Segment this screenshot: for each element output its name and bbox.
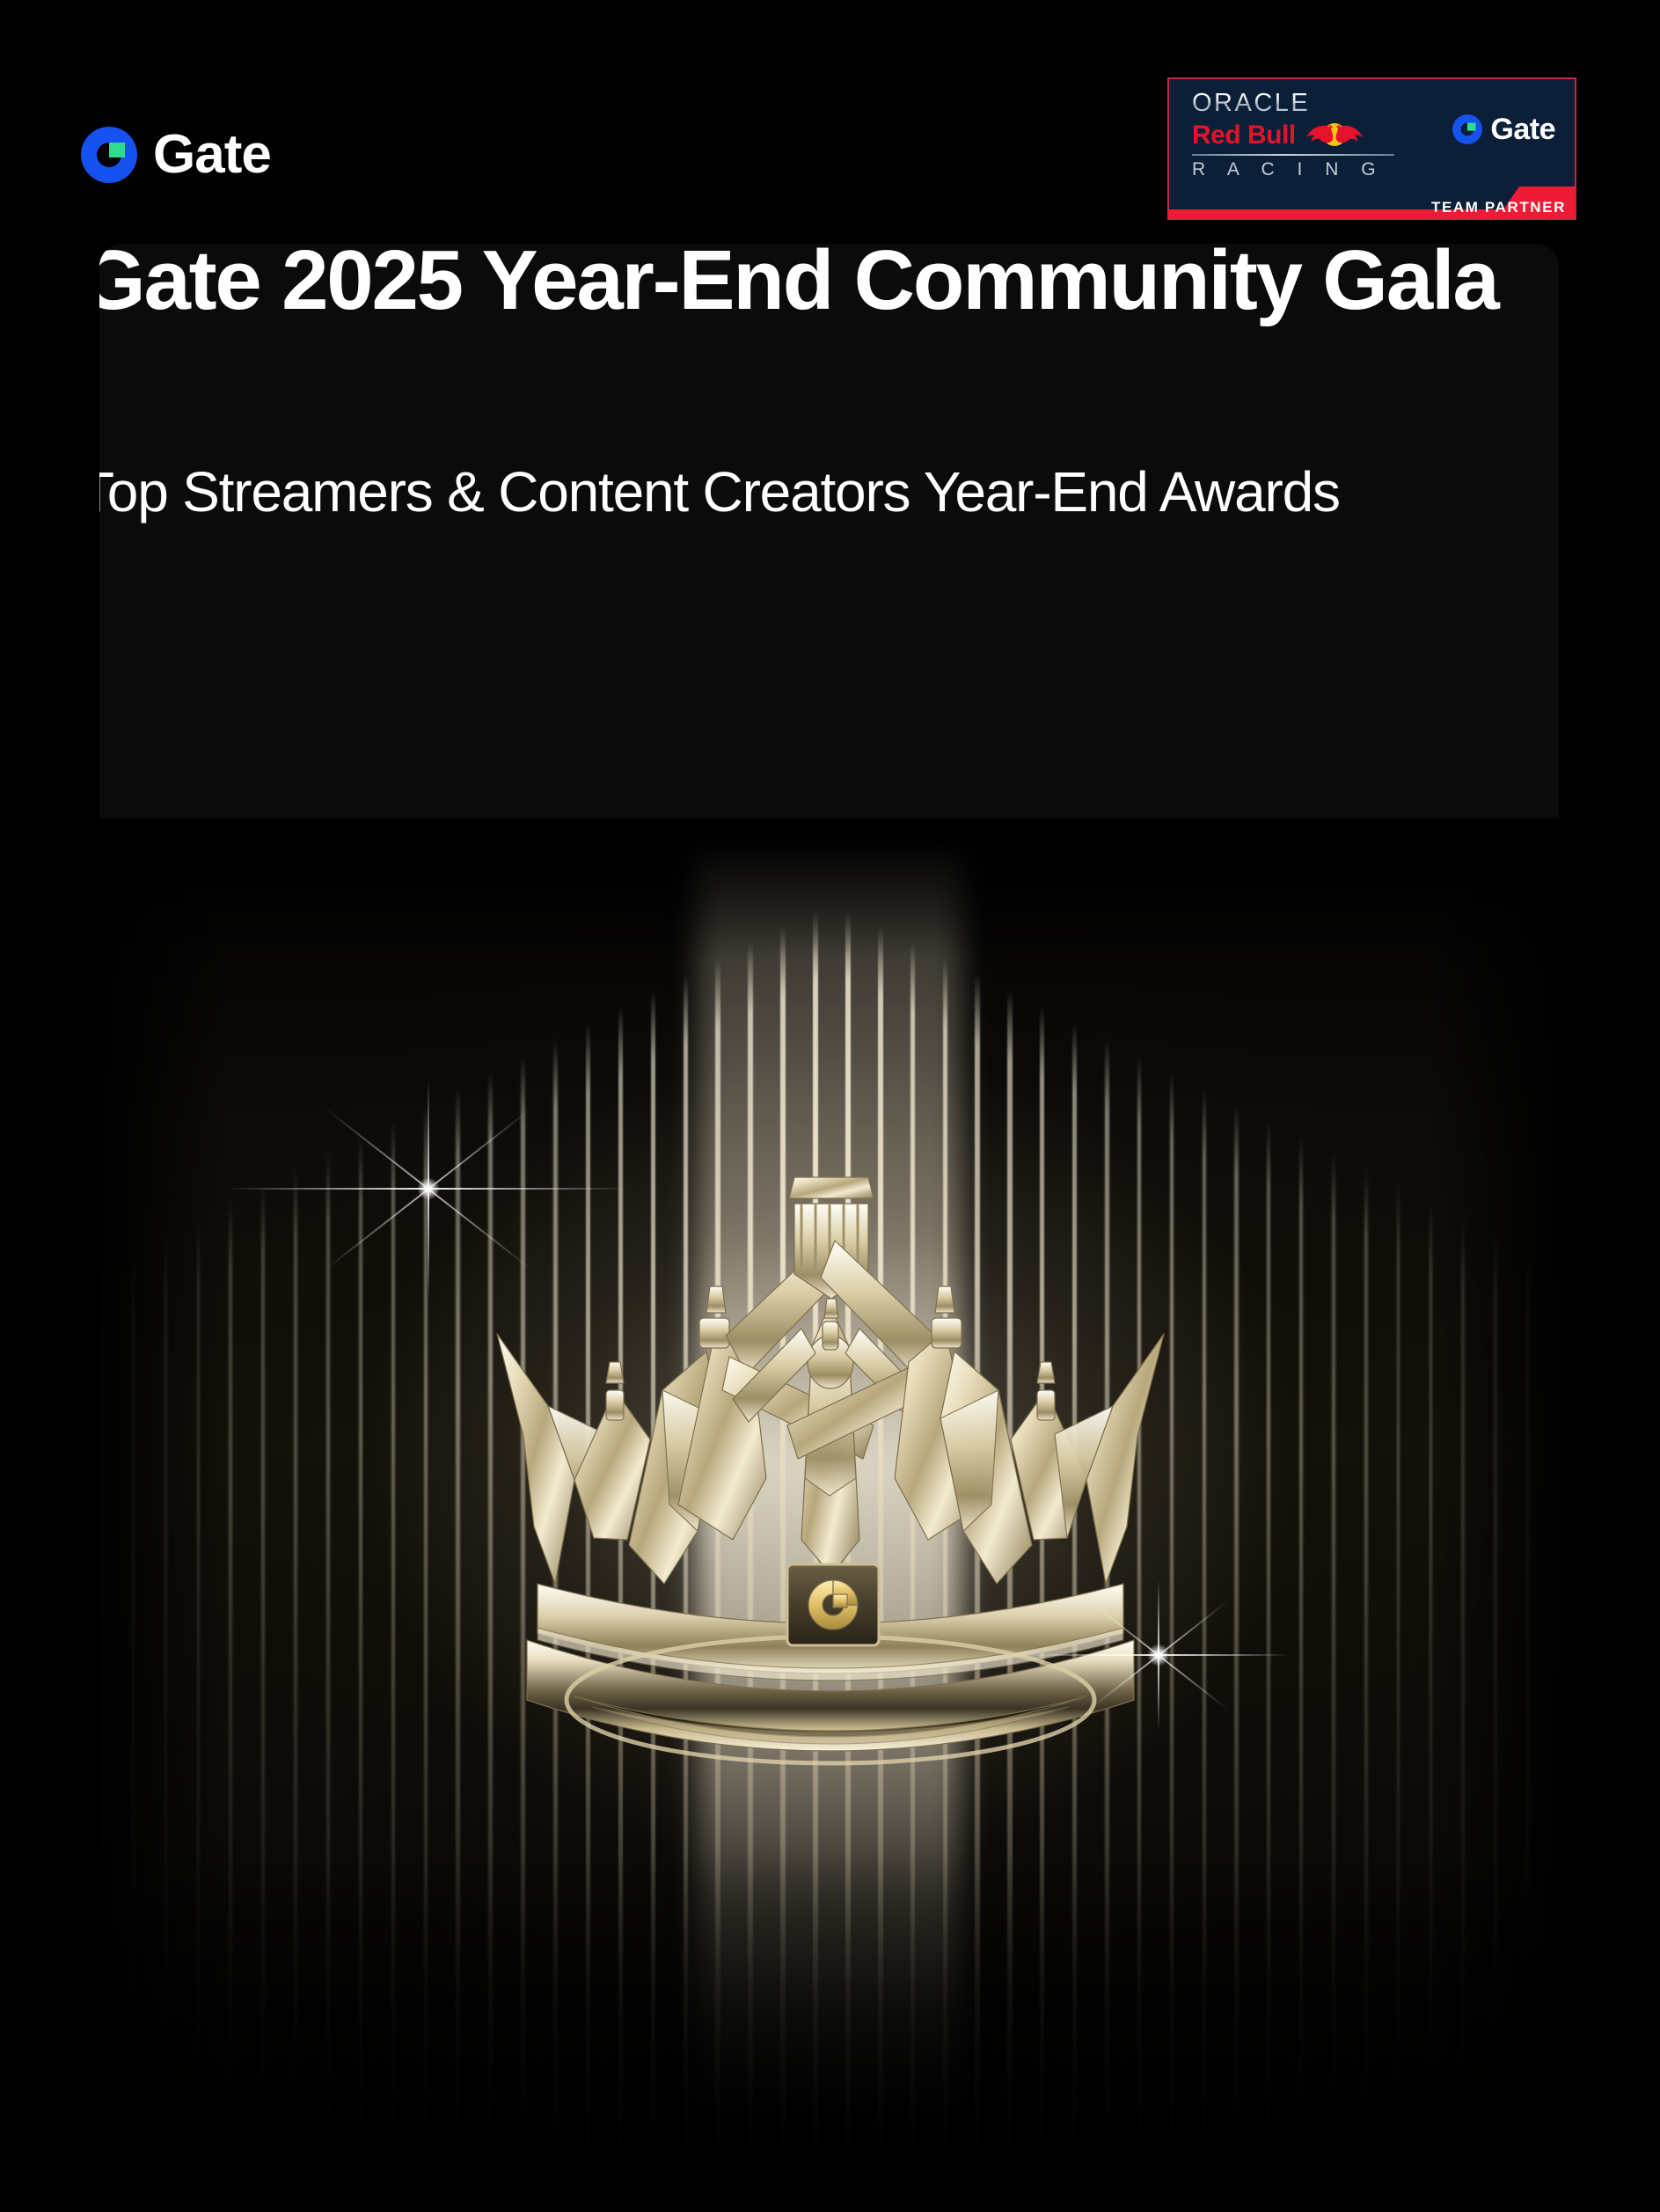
hero-image bbox=[99, 818, 1559, 2212]
gate-logo-icon bbox=[77, 123, 141, 187]
content-card: Gate 2025 Year-End Community Gala Top St… bbox=[99, 244, 1559, 2212]
red-bull-wordmark: Red Bull bbox=[1192, 122, 1296, 149]
red-bull-bulls-icon bbox=[1301, 121, 1368, 150]
page-subtitle: Top Streamers & Content Creators Year-En… bbox=[99, 459, 1559, 526]
racing-wordmark: R A C I N G bbox=[1192, 160, 1394, 179]
team-partner-label: TEAM PARTNER bbox=[1431, 200, 1566, 215]
badge-gate-lockup: Gate bbox=[1451, 113, 1555, 146]
gate-logo-icon bbox=[1451, 113, 1484, 146]
hero-top-fade bbox=[99, 818, 1559, 957]
badge-divider bbox=[1192, 154, 1394, 156]
top-bar: Gate ORACLE Red Bull bbox=[0, 0, 1660, 244]
oracle-red-bull-racing-team-partner-badge[interactable]: ORACLE Red Bull R bbox=[1167, 77, 1576, 220]
red-bull-racing-lockup: ORACLE Red Bull R bbox=[1192, 91, 1394, 179]
oracle-wordmark: ORACLE bbox=[1192, 91, 1394, 116]
gate-g-emblem-icon bbox=[808, 1580, 858, 1630]
card-header: Gate 2025 Year-End Community Gala Top St… bbox=[99, 244, 1559, 297]
gate-wordmark: Gate bbox=[153, 128, 271, 182]
page-title: Gate 2025 Year-End Community Gala bbox=[99, 244, 1559, 328]
page-root: Gate ORACLE Red Bull bbox=[0, 0, 1660, 2212]
hero-bottom-fade bbox=[99, 1849, 1559, 2212]
crown-icon bbox=[442, 1126, 1217, 1848]
team-partner-banner: TEAM PARTNER bbox=[1169, 187, 1576, 218]
gate-brand-lockup[interactable]: Gate bbox=[77, 123, 271, 187]
badge-gate-wordmark: Gate bbox=[1490, 114, 1555, 144]
